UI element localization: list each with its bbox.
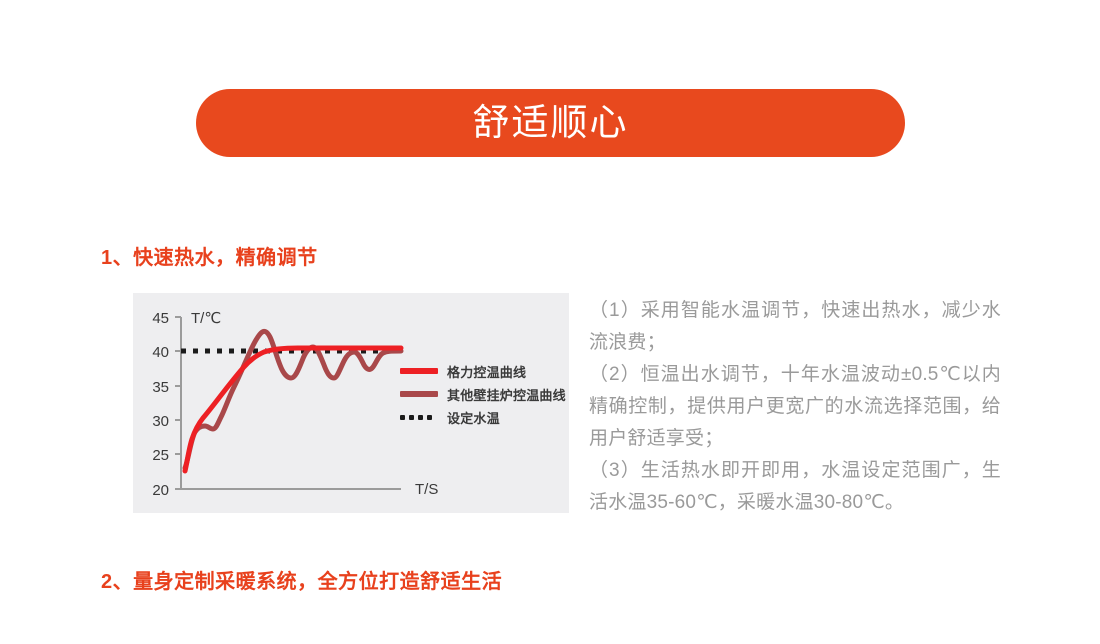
legend-swatch-solid-red bbox=[400, 363, 438, 379]
legend-item-gree: 格力控温曲线 bbox=[400, 363, 566, 379]
feature-item-2: （2）恒温出水调节，十年水温波动±0.5℃以内精确控制，提供用户更宽广的水流选择… bbox=[589, 359, 1001, 455]
chart-plot-area: 45 40 35 30 25 20 T/℃ T/S 格 bbox=[133, 293, 569, 513]
y-tick-label-35: 35 bbox=[152, 379, 169, 396]
legend-item-other-boiler: 其他壁挂炉控温曲线 bbox=[400, 386, 566, 402]
feature-item-1: （1）采用智能水温调节，快速出热水，减少水流浪费； bbox=[589, 295, 1001, 359]
legend-label-setpoint: 设定水温 bbox=[447, 408, 500, 427]
y-axis-title: T/℃ bbox=[191, 310, 221, 327]
y-tick-label-45: 45 bbox=[152, 310, 169, 327]
section-heading-2: 2、量身定制采暖系统，全方位打造舒适生活 bbox=[101, 565, 502, 594]
legend-label-gree: 格力控温曲线 bbox=[447, 362, 526, 381]
legend-item-setpoint: 设定水温 bbox=[400, 409, 566, 425]
page-title: 舒适顺心 bbox=[473, 104, 629, 143]
legend-swatch-solid-darkred bbox=[400, 386, 438, 402]
feature-item-3: （3）生活热水即开即用，水温设定范围广，生活水温35-60℃，采暖水温30-80… bbox=[589, 455, 1001, 519]
x-axis-title: T/S bbox=[415, 481, 438, 498]
section-heading-1: 1、快速热水，精确调节 bbox=[101, 241, 318, 270]
title-banner: 舒适顺心 bbox=[196, 89, 905, 157]
y-tick-label-20: 20 bbox=[152, 482, 169, 499]
y-tick-label-25: 25 bbox=[152, 447, 169, 464]
temperature-chart-panel: 45 40 35 30 25 20 T/℃ T/S 格 bbox=[133, 293, 569, 513]
chart-legend: 格力控温曲线 其他壁挂炉控温曲线 设定水温 bbox=[400, 363, 566, 425]
series-gree-curve bbox=[185, 348, 401, 471]
y-tick-label-30: 30 bbox=[152, 413, 169, 430]
features-description: （1）采用智能水温调节，快速出热水，减少水流浪费； （2）恒温出水调节，十年水温… bbox=[589, 295, 1001, 519]
legend-label-other-boiler: 其他壁挂炉控温曲线 bbox=[447, 385, 566, 404]
y-tick-label-40: 40 bbox=[152, 344, 169, 361]
legend-swatch-dotted-black bbox=[400, 409, 438, 425]
